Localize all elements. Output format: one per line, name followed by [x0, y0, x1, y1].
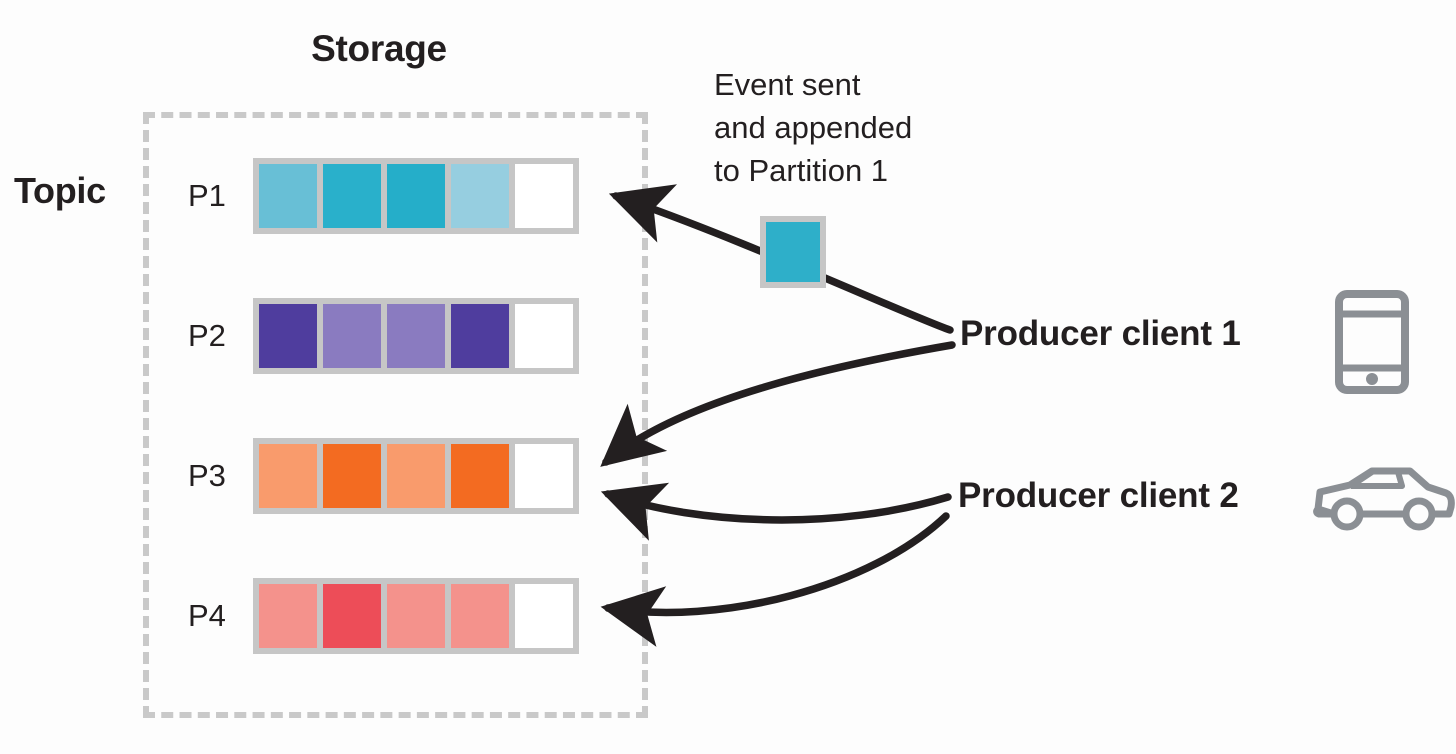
- event-cell: [259, 304, 317, 368]
- event-cell: [387, 164, 445, 228]
- event-cell: [387, 444, 445, 508]
- event-cell: [387, 304, 445, 368]
- event-annotation-text: Event sent and appended to Partition 1: [714, 64, 912, 192]
- partition-row-p3: P3: [186, 438, 579, 514]
- car-icon: [1310, 465, 1456, 536]
- event-cell: [323, 304, 381, 368]
- arrow-producer2-to-p4: [608, 516, 946, 612]
- arrow-producer1-to-p3: [606, 345, 952, 462]
- event-cell: [451, 164, 509, 228]
- topic-label: Topic: [14, 170, 106, 211]
- producer-client-2-label: Producer client 2: [958, 476, 1239, 516]
- partition-label: P3: [186, 458, 253, 494]
- partition-track: [253, 158, 579, 234]
- event-cell: [323, 164, 381, 228]
- partition-row-p4: P4: [186, 578, 579, 654]
- event-cell: [323, 444, 381, 508]
- event-cell: [451, 584, 509, 648]
- event-cell: [259, 584, 317, 648]
- event-cell: [387, 584, 445, 648]
- empty-cell: [515, 304, 573, 368]
- empty-cell: [515, 584, 573, 648]
- empty-cell: [515, 164, 573, 228]
- partition-row-p2: P2: [186, 298, 579, 374]
- event-cell: [259, 444, 317, 508]
- diagram-canvas: Storage Topic P1P2P3P4 Event sent and ap…: [0, 0, 1456, 754]
- arrow-producer2-to-p3: [608, 494, 948, 520]
- smartphone-icon: [1334, 290, 1410, 399]
- event-cell: [259, 164, 317, 228]
- partition-label: P2: [186, 318, 253, 354]
- event-square: [760, 216, 826, 288]
- event-cell: [451, 304, 509, 368]
- partition-label: P4: [186, 598, 253, 634]
- partition-row-p1: P1: [186, 158, 579, 234]
- event-cell: [323, 584, 381, 648]
- empty-cell: [515, 444, 573, 508]
- producer-client-1-label: Producer client 1: [960, 314, 1241, 354]
- event-square-fill: [766, 222, 820, 282]
- storage-title: Storage: [0, 28, 758, 70]
- partition-track: [253, 578, 579, 654]
- partition-track: [253, 298, 579, 374]
- partition-label: P1: [186, 178, 253, 214]
- event-cell: [451, 444, 509, 508]
- partition-track: [253, 438, 579, 514]
